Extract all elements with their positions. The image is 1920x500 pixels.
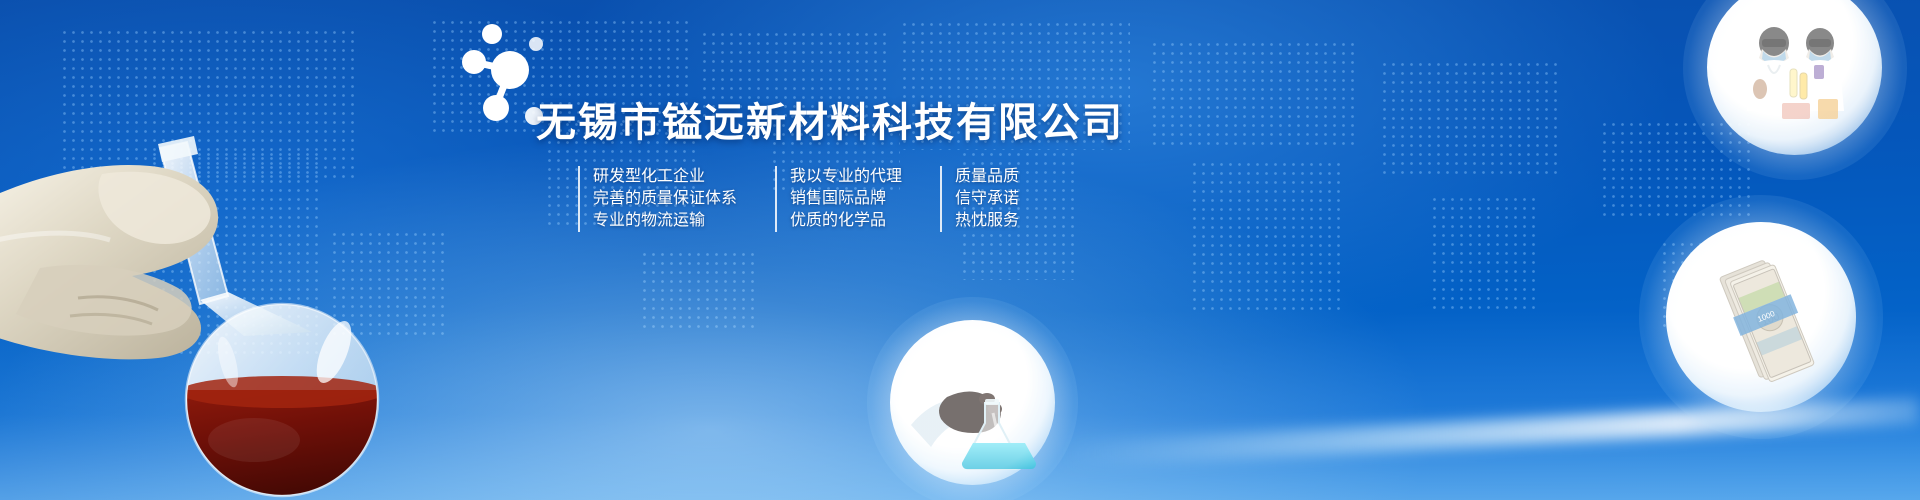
tagline-line: 研发型化工企业 (593, 166, 737, 188)
company-title: 无锡市镒远新材料科技有限公司 (536, 90, 1124, 148)
tagline-line: 我以专业的代理 (790, 166, 902, 188)
lab-technicians-icon (1707, 0, 1882, 155)
tagline-line: 质量品质 (955, 166, 1019, 188)
tagline-group: 研发型化工企业 完善的质量保证体系 专业的物流运输 我以专业的代理 销售国际品牌… (578, 166, 1019, 232)
tagline-line: 销售国际品牌 (790, 188, 902, 210)
tagline-line: 完善的质量保证体系 (593, 188, 737, 210)
tagline-column-3: 质量品质 信守承诺 热忱服务 (940, 166, 1019, 232)
tagline-column-1: 研发型化工企业 完善的质量保证体系 专业的物流运输 (578, 166, 737, 232)
tagline-line: 热忱服务 (955, 210, 1019, 232)
light-ray (1060, 398, 1920, 469)
tagline-line: 信守承诺 (955, 188, 1019, 210)
tagline-line: 优质的化学品 (790, 210, 902, 232)
hand-erlenmeyer-flask-icon (890, 320, 1055, 485)
tagline-line: 专业的物流运输 (593, 210, 737, 232)
tagline-column-2: 我以专业的代理 销售国际品牌 优质的化学品 (775, 166, 902, 232)
company-banner: 无锡市镒远新材料科技有限公司 研发型化工企业 完善的质量保证体系 专业的物流运输… (0, 0, 1920, 500)
gloved-hand-flask-icon (0, 100, 402, 500)
banknote-stack-icon: 100 1000 (1666, 222, 1856, 412)
